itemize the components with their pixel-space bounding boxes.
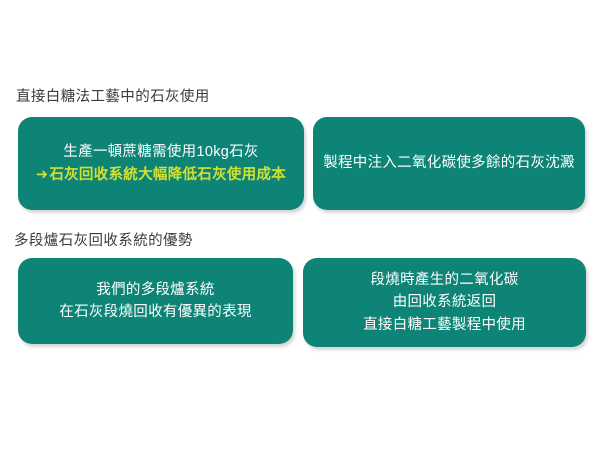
multi-hearth-advantage-box: 我們的多段爐系統 在石灰段燒回收有優異的表現 xyxy=(18,258,293,344)
lime-usage-line-1: 生產一頓蔗糖需使用10kg石灰 xyxy=(63,141,258,163)
arrow-right-icon: ➜ xyxy=(36,164,48,186)
co2-recycle-box: 段燒時產生的二氧化碳 由回收系統返回 直接白糖工藝製程中使用 xyxy=(303,258,586,347)
section-1-heading: 直接白糖法工藝中的石灰使用 xyxy=(16,90,210,105)
co2-injection-box: 製程中注入二氧化碳使多餘的石灰沈澱 xyxy=(313,117,585,210)
lime-usage-line-2: ➜石灰回收系統大幅降低石灰使用成本 xyxy=(36,164,286,186)
slide-canvas: 直接白糖法工藝中的石灰使用 生產一頓蔗糖需使用10kg石灰 ➜石灰回收系統大幅降… xyxy=(0,0,600,450)
co2-injection-line-1: 製程中注入二氧化碳使多餘的石灰沈澱 xyxy=(323,152,575,174)
lime-usage-line-2-label: 石灰回收系統大幅降低石灰使用成本 xyxy=(49,167,286,183)
multi-hearth-line-2: 在石灰段燒回收有優異的表現 xyxy=(59,301,251,323)
section-2-heading: 多段爐石灰回收系統的優勢 xyxy=(14,234,193,249)
multi-hearth-line-1: 我們的多段爐系統 xyxy=(96,279,214,301)
co2-recycle-line-2: 由回收系統返回 xyxy=(393,291,497,313)
co2-recycle-line-3: 直接白糖工藝製程中使用 xyxy=(363,314,526,336)
lime-usage-cost-box: 生產一頓蔗糖需使用10kg石灰 ➜石灰回收系統大幅降低石灰使用成本 xyxy=(18,117,304,210)
co2-recycle-line-1: 段燒時產生的二氧化碳 xyxy=(371,269,519,291)
